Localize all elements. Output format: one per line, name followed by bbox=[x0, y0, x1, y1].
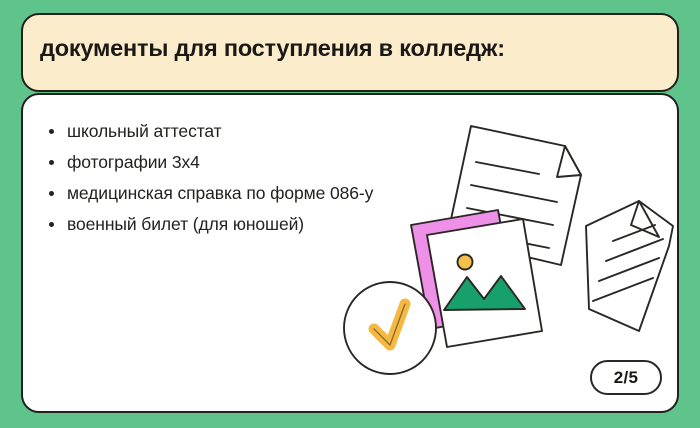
body-card: школьный аттестат фотографии 3х4 медицин… bbox=[21, 93, 679, 413]
slide-container: документы для поступления в колледж: шко… bbox=[0, 0, 700, 428]
photo-card-icon bbox=[427, 219, 542, 347]
list-item: школьный аттестат bbox=[46, 119, 376, 144]
header-card: документы для поступления в колледж: bbox=[21, 13, 679, 92]
list-item: военный билет (для юношей) bbox=[46, 212, 376, 237]
sun-icon bbox=[458, 255, 473, 270]
right-document-icon bbox=[586, 201, 673, 331]
clock-icon bbox=[344, 282, 436, 374]
page-indicator-badge: 2/5 bbox=[590, 360, 662, 395]
page-indicator-label: 2/5 bbox=[614, 368, 639, 388]
list-item: медицинская справка по форме 086-у bbox=[46, 181, 376, 206]
documents-illustration bbox=[343, 113, 673, 388]
page-title: документы для поступления в колледж: bbox=[40, 35, 660, 62]
requirements-list: школьный аттестат фотографии 3х4 медицин… bbox=[46, 119, 376, 243]
list-item: фотографии 3х4 bbox=[46, 150, 376, 175]
